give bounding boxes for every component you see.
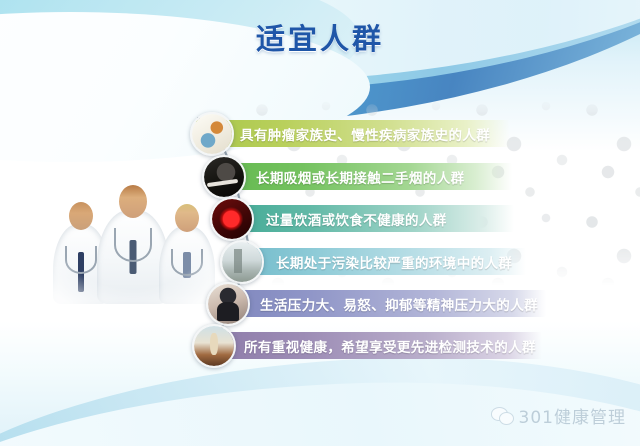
pollution-icon-art bbox=[222, 242, 262, 282]
slide-canvas: 适宜人群 具有肿瘤家族史、慢性疾病家族史的人群 bbox=[0, 0, 640, 446]
list-item-label: 具有肿瘤家族史、慢性疾病家族史的人群 bbox=[196, 124, 490, 144]
watermark: 301健康管理 bbox=[491, 403, 626, 428]
list-item-label: 长期吸烟或长期接触二手烟的人群 bbox=[212, 167, 465, 187]
list-item-bar: 具有肿瘤家族史、慢性疾病家族史的人群 bbox=[196, 120, 510, 147]
drinking-icon bbox=[210, 197, 254, 241]
list-item-bar: 生活压力大、易怒、抑郁等精神压力大的人群 bbox=[216, 290, 546, 317]
family-history-icon bbox=[190, 112, 234, 156]
smoking-icon bbox=[202, 155, 246, 199]
list-item-label: 所有重视健康，希望享受更先进检测技术的人群 bbox=[200, 336, 536, 356]
list-item-label: 生活压力大、易怒、抑郁等精神压力大的人群 bbox=[216, 294, 538, 314]
smoking-icon-art bbox=[204, 157, 244, 197]
list-item-bar: 长期处于污染比较严重的环境中的人群 bbox=[232, 248, 526, 275]
family-history-icon-art bbox=[192, 114, 232, 154]
list-item-label: 过量饮酒或饮食不健康的人群 bbox=[222, 209, 447, 229]
wechat-icon bbox=[491, 407, 513, 425]
stress-icon-art bbox=[208, 284, 248, 324]
pollution-icon bbox=[220, 240, 264, 284]
health-technology-icon bbox=[192, 324, 236, 368]
drinking-icon-art bbox=[212, 199, 252, 239]
list-item-bar: 所有重视健康，希望享受更先进检测技术的人群 bbox=[200, 332, 542, 359]
health-technology-icon-art bbox=[194, 326, 234, 366]
list-item-label: 长期处于污染比较严重的环境中的人群 bbox=[232, 252, 512, 272]
stress-icon bbox=[206, 282, 250, 326]
list-item-bar: 长期吸烟或长期接触二手烟的人群 bbox=[212, 163, 512, 190]
wechat-icon-bubble-small bbox=[499, 412, 514, 425]
watermark-text: 301健康管理 bbox=[519, 403, 626, 428]
list-item-bar: 过量饮酒或饮食不健康的人群 bbox=[222, 205, 514, 232]
audience-list: 具有肿瘤家族史、慢性疾病家族史的人群 长期吸烟或长期接触二手烟的人群 过量饮酒或… bbox=[0, 0, 640, 446]
